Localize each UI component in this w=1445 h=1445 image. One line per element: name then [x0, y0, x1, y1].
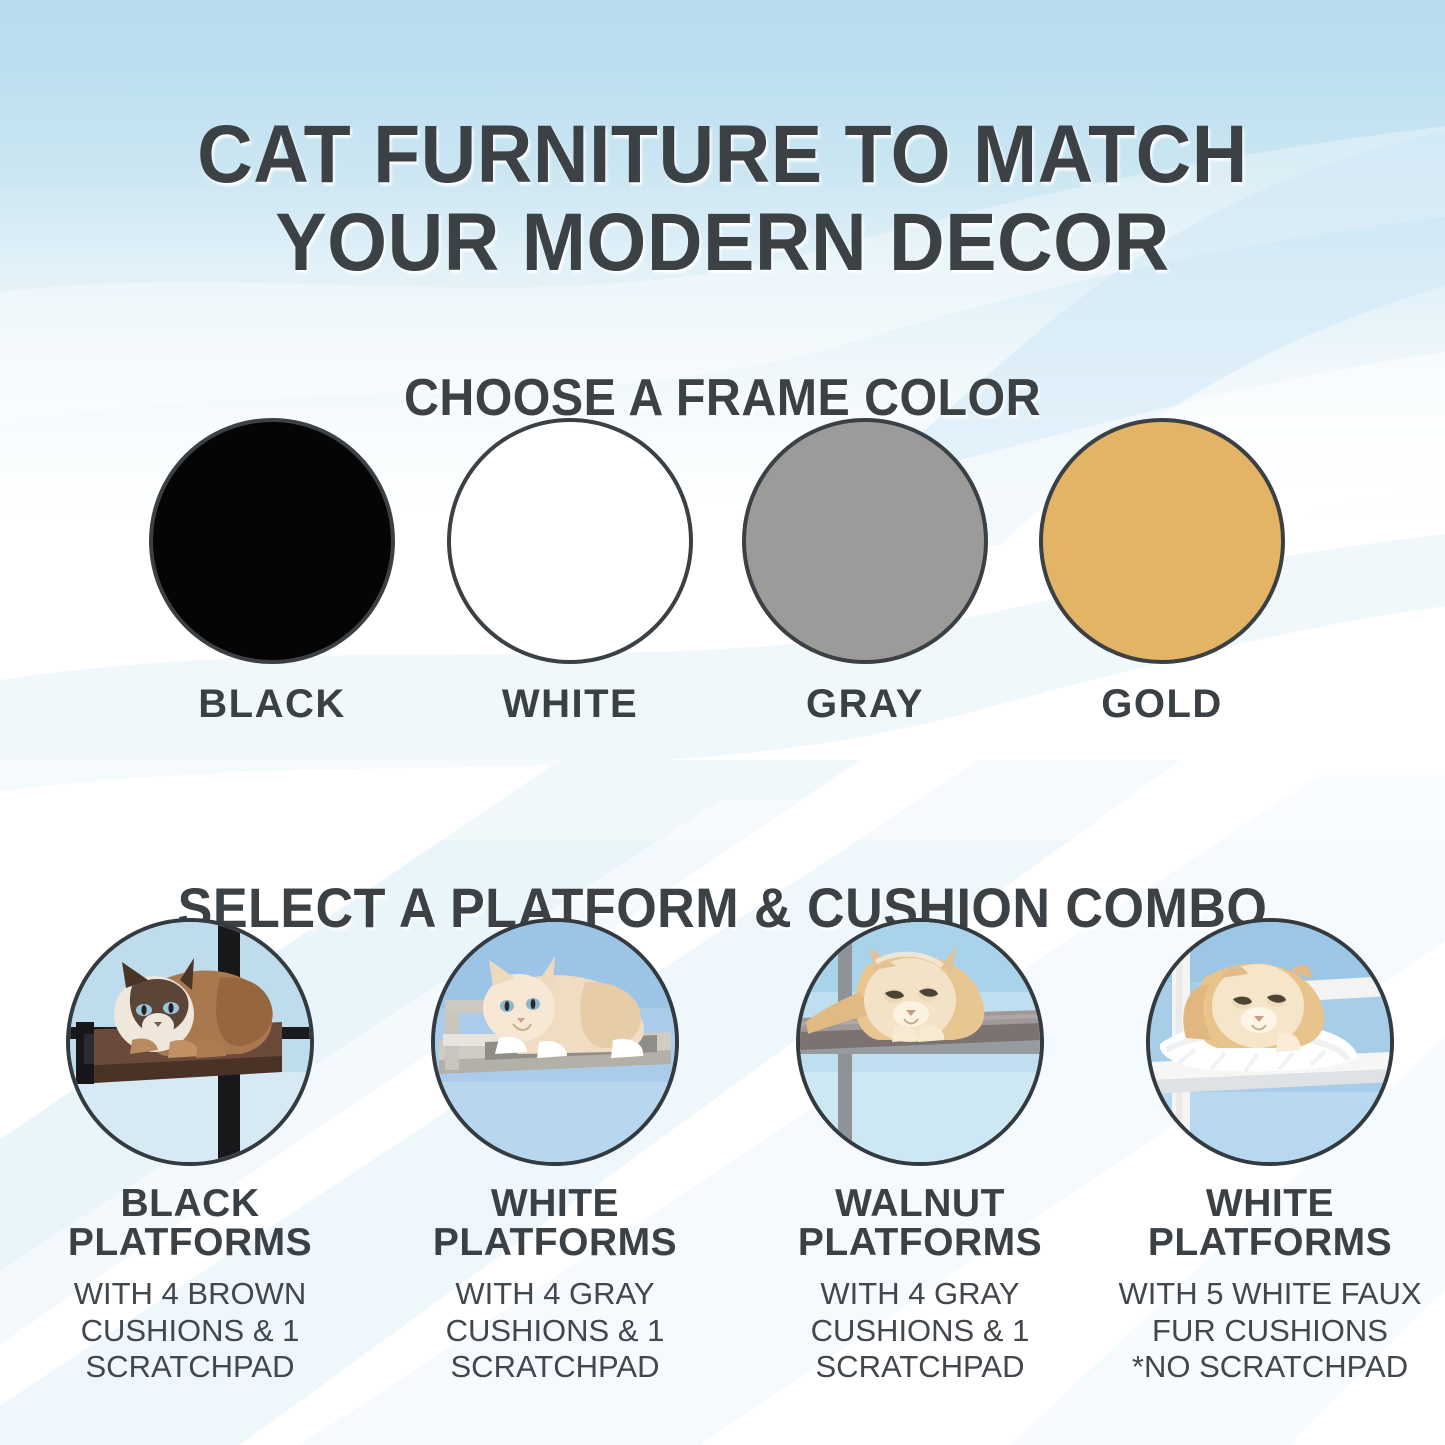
- combo-title-walnut-platforms: WALNUT PLATFORMS: [750, 1184, 1090, 1262]
- combo-option-walnut-platforms[interactable]: WALNUT PLATFORMS WITH 4 GRAY CUSHIONS & …: [750, 918, 1090, 1386]
- combo-title-line-1: WHITE: [491, 1182, 619, 1225]
- page-title-line-2: YOUR MODERN DECOR: [43, 199, 1401, 288]
- combo-photo-black-platforms[interactable]: [66, 918, 314, 1166]
- combo-sub-line-3: SCRATCHPAD: [385, 1349, 725, 1386]
- frame-color-option-white[interactable]: WHITE: [425, 418, 715, 727]
- combo-title-white-platforms-gray: WHITE PLATFORMS: [385, 1184, 725, 1262]
- combo-title-line-2: PLATFORMS: [1100, 1223, 1440, 1262]
- combo-sub-line-3: *NO SCRATCHPAD: [1100, 1349, 1440, 1386]
- frame-color-option-gold[interactable]: GOLD: [1017, 418, 1307, 727]
- combo-option-white-platforms-gray[interactable]: WHITE PLATFORMS WITH 4 GRAY CUSHIONS & 1…: [385, 918, 725, 1386]
- combo-sub-line-1: WITH 4 GRAY: [385, 1276, 725, 1313]
- page-title: CAT FURNITURE TO MATCH YOUR MODERN DECOR: [43, 111, 1401, 288]
- swatch-label-gold: GOLD: [1017, 682, 1307, 727]
- combo-sub-line-1: WITH 4 GRAY: [750, 1276, 1090, 1313]
- swatch-label-white: WHITE: [425, 682, 715, 727]
- combo-description-walnut-platforms: WITH 4 GRAY CUSHIONS & 1 SCRATCHPAD: [750, 1276, 1090, 1386]
- combo-title-line-2: PLATFORMS: [20, 1223, 360, 1262]
- swatch-circle-gray[interactable]: [742, 418, 988, 664]
- combo-sub-line-2: CUSHIONS & 1: [20, 1313, 360, 1350]
- combo-title-white-platforms-fur: WHITE PLATFORMS: [1100, 1184, 1440, 1262]
- combo-option-white-platforms-fur[interactable]: WHITE PLATFORMS WITH 5 WHITE FAUX FUR CU…: [1100, 918, 1440, 1386]
- combo-option-black-platforms[interactable]: BLACK PLATFORMS WITH 4 BROWN CUSHIONS & …: [20, 918, 360, 1386]
- combo-sub-line-2: CUSHIONS & 1: [750, 1313, 1090, 1350]
- combo-photo-white-platforms-fur[interactable]: [1146, 918, 1394, 1166]
- swatch-label-gray: GRAY: [720, 682, 1010, 727]
- combo-sub-line-3: SCRATCHPAD: [750, 1349, 1090, 1386]
- combo-photo-walnut-platforms[interactable]: [796, 918, 1044, 1166]
- combo-title-black-platforms: BLACK PLATFORMS: [20, 1184, 360, 1262]
- combo-description-white-platforms-fur: WITH 5 WHITE FAUX FUR CUSHIONS *NO SCRAT…: [1100, 1276, 1440, 1386]
- frame-color-swatch-group: BLACK WHITE GRAY GOLD: [0, 418, 1445, 738]
- platform-cushion-combo-group: BLACK PLATFORMS WITH 4 BROWN CUSHIONS & …: [0, 918, 1445, 1418]
- combo-description-black-platforms: WITH 4 BROWN CUSHIONS & 1 SCRATCHPAD: [20, 1276, 360, 1386]
- combo-title-line-1: BLACK: [121, 1182, 260, 1225]
- swatch-circle-gold[interactable]: [1039, 418, 1285, 664]
- frame-color-option-gray[interactable]: GRAY: [720, 418, 1010, 727]
- swatch-circle-black[interactable]: [149, 418, 395, 664]
- combo-title-line-1: WHITE: [1206, 1182, 1334, 1225]
- product-infographic: CAT FURNITURE TO MATCH YOUR MODERN DECOR…: [0, 0, 1445, 1445]
- swatch-circle-white[interactable]: [447, 418, 693, 664]
- frame-color-option-black[interactable]: BLACK: [127, 418, 417, 727]
- combo-sub-line-1: WITH 5 WHITE FAUX: [1100, 1276, 1440, 1313]
- frame-color-section-heading: CHOOSE A FRAME COLOR: [51, 372, 1395, 424]
- combo-description-white-platforms-gray: WITH 4 GRAY CUSHIONS & 1 SCRATCHPAD: [385, 1276, 725, 1386]
- combo-sub-line-2: FUR CUSHIONS: [1100, 1313, 1440, 1350]
- swatch-label-black: BLACK: [127, 682, 417, 727]
- combo-sub-line-3: SCRATCHPAD: [20, 1349, 360, 1386]
- combo-sub-line-2: CUSHIONS & 1: [385, 1313, 725, 1350]
- page-title-line-1: CAT FURNITURE TO MATCH: [43, 111, 1401, 200]
- combo-sub-line-1: WITH 4 BROWN: [20, 1276, 360, 1313]
- combo-title-line-1: WALNUT: [835, 1182, 1005, 1225]
- combo-photo-white-platforms-gray[interactable]: [431, 918, 679, 1166]
- combo-title-line-2: PLATFORMS: [750, 1223, 1090, 1262]
- combo-title-line-2: PLATFORMS: [385, 1223, 725, 1262]
